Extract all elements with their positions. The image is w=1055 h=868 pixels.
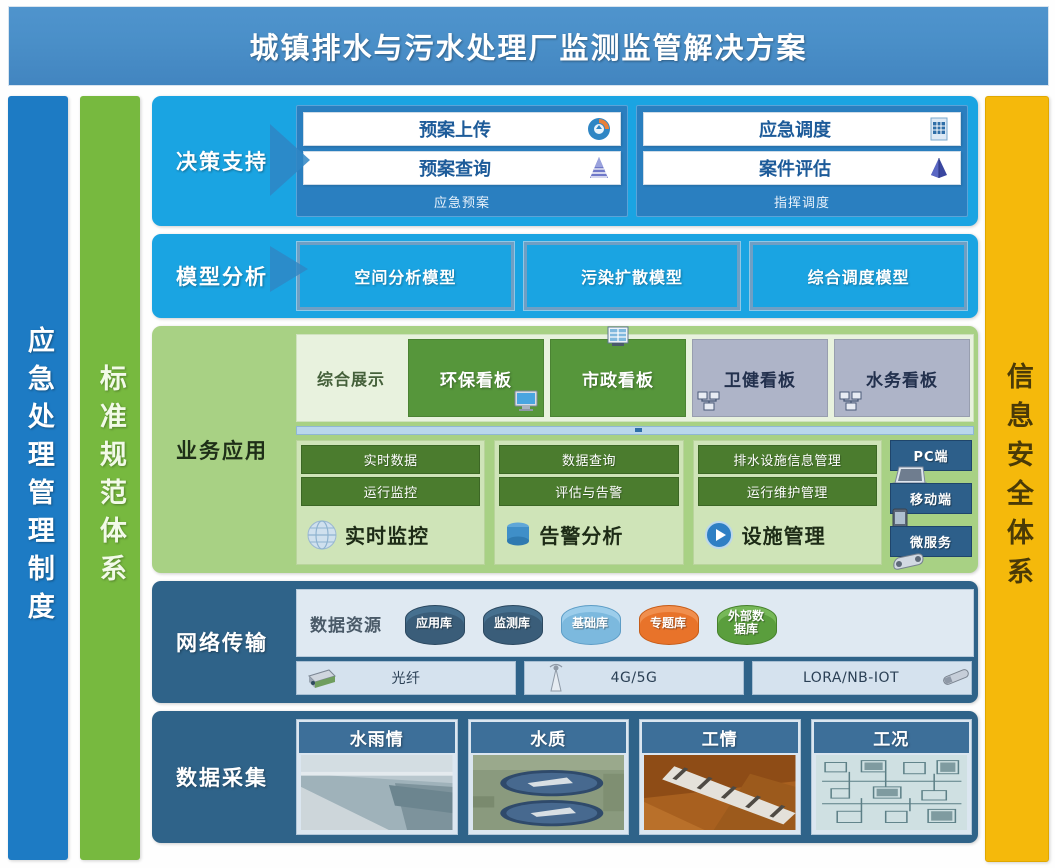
kanban-municipal-label: 市政看板 bbox=[582, 366, 654, 391]
layer-data-acquisition: 数据采集 水雨情 bbox=[152, 711, 978, 843]
business-chip-assessment-alarm[interactable]: 评估与告警 bbox=[499, 477, 678, 506]
decision-item-plan-upload[interactable]: 预案上传 bbox=[303, 112, 621, 146]
database-application-label: 应用库 bbox=[416, 617, 452, 630]
canal-channel-photo bbox=[301, 755, 453, 830]
endpoint-mobile-label: 移动端 bbox=[910, 493, 952, 508]
business-chip-drainage-facility-info[interactable]: 排水设施信息管理 bbox=[698, 445, 877, 474]
globe-icon bbox=[305, 518, 339, 552]
database-thematic-label: 专题库 bbox=[650, 617, 686, 630]
data-resource-label: 数据资源 bbox=[297, 611, 395, 636]
layer-stack: 决策支持 预案上传 bbox=[152, 96, 978, 851]
cone-pyramid-icon bbox=[926, 155, 952, 181]
data-card-water-quality[interactable]: 水质 bbox=[468, 719, 630, 835]
data-card-water-quality-title: 水质 bbox=[471, 722, 627, 753]
business-chip-data-query[interactable]: 数据查询 bbox=[499, 445, 678, 474]
pyramid-icon bbox=[586, 155, 612, 181]
model-item-pollution-diffusion[interactable]: 污染扩散模型 bbox=[523, 241, 742, 311]
page-title: 城镇排水与污水处理厂监测监管解决方案 bbox=[249, 25, 807, 67]
layer-network-transmission-label: 网络传输 bbox=[152, 581, 292, 703]
transport-4g5g-label: 4G/5G bbox=[611, 670, 658, 686]
business-column-realtime-monitoring: 实时数据 运行监控 bbox=[296, 440, 485, 565]
kanban-water-affairs[interactable]: 水务看板 bbox=[834, 339, 970, 417]
kanban-water-affairs-label: 水务看板 bbox=[866, 366, 938, 391]
business-footer-realtime-monitoring-label: 实时监控 bbox=[345, 520, 429, 549]
pillar-emergency-management: 应急处理管理制度 bbox=[8, 96, 68, 860]
layer-business-application-label: 业务应用 bbox=[152, 326, 292, 573]
business-footer-facility-management[interactable]: 设施管理 bbox=[698, 509, 877, 560]
layer-business-application: 业务应用 综合展示 环保看板 bbox=[152, 326, 978, 573]
refresh-circle-icon bbox=[586, 116, 612, 142]
kanban-health-label: 卫健看板 bbox=[724, 366, 796, 391]
pillar-information-security-label: 信息安全体系 bbox=[1002, 362, 1032, 596]
decision-item-case-assessment-label: 案件评估 bbox=[644, 155, 960, 181]
pillar-information-security: 信息安全体系 bbox=[985, 96, 1049, 862]
transport-fiber-label: 光纤 bbox=[392, 668, 421, 688]
grid-table-icon bbox=[926, 116, 952, 142]
client-endpoints: PC端 移动端 bbox=[890, 440, 972, 565]
network-node-icon bbox=[839, 390, 863, 412]
window-grid-icon bbox=[606, 326, 630, 348]
business-footer-alarm-analysis-label: 告警分析 bbox=[539, 520, 623, 549]
data-card-project-status[interactable]: 工情 bbox=[639, 719, 801, 835]
database-thematic[interactable]: 专题库 bbox=[639, 599, 697, 647]
database-icon bbox=[503, 518, 533, 552]
database-basic[interactable]: 基础库 bbox=[561, 599, 619, 647]
layer-decision-support: 决策支持 预案上传 bbox=[152, 96, 978, 226]
router-icon bbox=[305, 666, 335, 692]
decision-item-emergency-dispatch-label: 应急调度 bbox=[644, 116, 960, 142]
business-chip-operation-maintenance[interactable]: 运行维护管理 bbox=[698, 477, 877, 506]
display-scrollbar[interactable] bbox=[296, 426, 974, 435]
decision-item-plan-query-label: 预案查询 bbox=[304, 155, 620, 181]
database-external[interactable]: 外部数 据库 bbox=[717, 599, 775, 647]
pillar-emergency-management-label: 应急处理管理制度 bbox=[23, 326, 53, 630]
data-card-operating-condition-title: 工况 bbox=[814, 722, 970, 753]
layer-decision-support-label: 决策支持 bbox=[152, 96, 292, 226]
data-resource-panel: 数据资源 应用库 监测库 基础库 专题库 bbox=[296, 589, 974, 657]
database-application[interactable]: 应用库 bbox=[405, 599, 463, 647]
database-monitoring-label: 监测库 bbox=[494, 617, 530, 630]
endpoint-pc[interactable]: PC端 bbox=[890, 440, 972, 471]
decision-item-plan-upload-label: 预案上传 bbox=[304, 116, 620, 142]
kanban-environment-label: 环保看板 bbox=[440, 366, 512, 391]
endpoint-mobile[interactable]: 移动端 bbox=[890, 483, 972, 514]
endpoint-microservice-label: 微服务 bbox=[910, 536, 952, 551]
scada-schematic-photo bbox=[816, 755, 968, 830]
endpoint-microservice[interactable]: 微服务 bbox=[890, 526, 972, 557]
play-circle-icon bbox=[702, 518, 736, 552]
kanban-health[interactable]: 卫健看板 bbox=[692, 339, 828, 417]
database-monitoring[interactable]: 监测库 bbox=[483, 599, 541, 647]
pillar-standards-system-label: 标准规范体系 bbox=[95, 364, 125, 592]
title-banner: 城镇排水与污水处理厂监测监管解决方案 bbox=[8, 6, 1049, 86]
layer-model-analysis: 模型分析 空间分析模型 污染扩散模型 综合调度模型 bbox=[152, 234, 978, 318]
business-chip-operation-monitoring[interactable]: 运行监控 bbox=[301, 477, 480, 506]
sensor-device-icon bbox=[939, 664, 969, 690]
layer-model-analysis-label: 模型分析 bbox=[152, 234, 292, 318]
data-card-water-rain[interactable]: 水雨情 bbox=[296, 719, 458, 835]
comprehensive-display-label: 综合展示 bbox=[297, 335, 405, 421]
decision-group-command-dispatch: 应急调度 bbox=[636, 105, 968, 217]
transport-fiber[interactable]: 光纤 bbox=[296, 661, 516, 695]
decision-group-command-dispatch-caption: 指挥调度 bbox=[643, 190, 961, 216]
comprehensive-display-panel: 综合展示 环保看板 市政看板 bbox=[296, 334, 974, 422]
layer-data-acquisition-label: 数据采集 bbox=[152, 711, 292, 843]
business-column-alarm-analysis: 数据查询 评估与告警 告警分析 bbox=[494, 440, 683, 565]
decision-group-emergency-plan-caption: 应急预案 bbox=[303, 190, 621, 216]
layer-network-transmission: 网络传输 数据资源 应用库 监测库 基础库 bbox=[152, 581, 978, 703]
antenna-tower-icon bbox=[543, 663, 573, 689]
decision-item-plan-query[interactable]: 预案查询 bbox=[303, 151, 621, 185]
business-column-facility-management: 排水设施信息管理 运行维护管理 设施管理 bbox=[693, 440, 882, 565]
transport-lora-nbiot-label: LORA/NB-IOT bbox=[803, 670, 899, 686]
monitor-icon bbox=[514, 390, 538, 412]
database-basic-label: 基础库 bbox=[572, 617, 608, 630]
decision-item-emergency-dispatch[interactable]: 应急调度 bbox=[643, 112, 961, 146]
business-chip-realtime-data[interactable]: 实时数据 bbox=[301, 445, 480, 474]
display-scrollbar-thumb[interactable] bbox=[635, 428, 642, 432]
data-card-water-rain-title: 水雨情 bbox=[299, 722, 455, 753]
buried-pipeline-photo bbox=[644, 755, 796, 830]
business-footer-facility-management-label: 设施管理 bbox=[742, 520, 826, 549]
data-card-operating-condition[interactable]: 工况 bbox=[811, 719, 973, 835]
decision-item-case-assessment[interactable]: 案件评估 bbox=[643, 151, 961, 185]
transport-lora-nbiot[interactable]: LORA/NB-IOT bbox=[752, 661, 972, 695]
kanban-municipal[interactable]: 市政看板 bbox=[550, 339, 686, 417]
transport-4g5g[interactable]: 4G/5G bbox=[524, 661, 744, 695]
endpoint-pc-label: PC端 bbox=[913, 450, 948, 465]
business-footer-alarm-analysis[interactable]: 告警分析 bbox=[499, 509, 678, 560]
business-footer-realtime-monitoring[interactable]: 实时监控 bbox=[301, 509, 480, 560]
model-item-integrated-dispatch[interactable]: 综合调度模型 bbox=[749, 241, 968, 311]
database-external-label: 外部数 据库 bbox=[728, 610, 764, 635]
pillar-standards-system: 标准规范体系 bbox=[80, 96, 140, 860]
solution-architecture-diagram: 城镇排水与污水处理厂监测监管解决方案 应急处理管理制度 标准规范体系 信息安全体… bbox=[0, 0, 1055, 868]
data-card-project-status-title: 工情 bbox=[642, 722, 798, 753]
network-node-icon bbox=[697, 390, 721, 412]
kanban-environment[interactable]: 环保看板 bbox=[408, 339, 544, 417]
sedimentation-tanks-photo bbox=[473, 755, 625, 830]
